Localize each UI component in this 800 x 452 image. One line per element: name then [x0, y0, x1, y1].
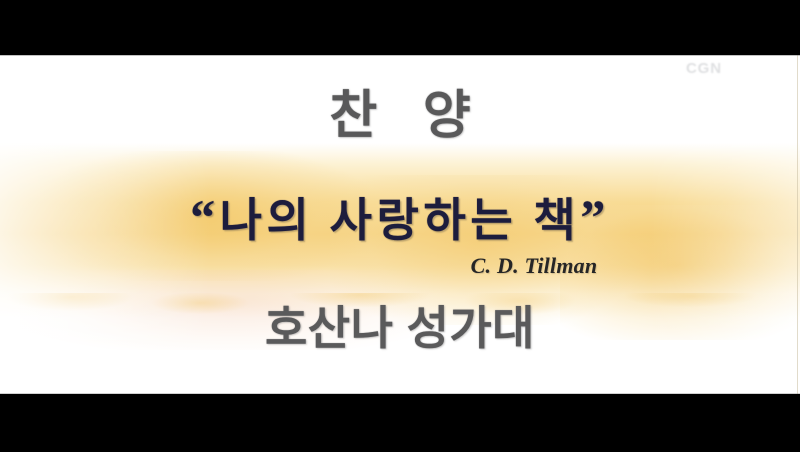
page-title: 찬 양 — [0, 89, 800, 144]
title-slide: 찬 양 “나의 사랑하는 책” C. D. Tillman 호산나 성가대 CG… — [0, 55, 800, 394]
slide-text-layer: 찬 양 “나의 사랑하는 책” C. D. Tillman 호산나 성가대 CG… — [0, 55, 800, 394]
quote-close-mark: ” — [580, 189, 610, 245]
composer-credit: C. D. Tillman — [0, 253, 800, 279]
letterbox-bar-bottom — [0, 394, 800, 452]
letterbox-bar-top — [0, 0, 800, 55]
performer-name: 호산나 성가대 — [0, 303, 800, 354]
slide-top-hairline — [0, 55, 800, 56]
broadcaster-watermark: CGN — [686, 60, 722, 77]
slide-right-edge — [797, 55, 798, 394]
song-title-text: 나의 사랑하는 책 — [220, 195, 581, 246]
video-frame: 찬 양 “나의 사랑하는 책” C. D. Tillman 호산나 성가대 CG… — [0, 0, 800, 452]
song-title: “나의 사랑하는 책” — [0, 190, 800, 247]
quote-open-mark: “ — [190, 189, 220, 245]
